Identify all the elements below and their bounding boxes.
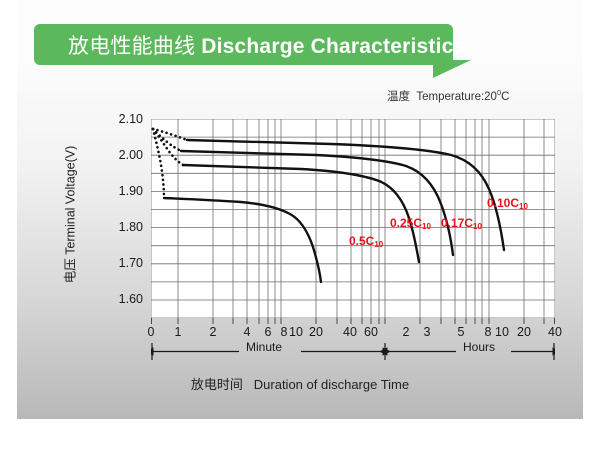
banner-tail-icon — [433, 60, 471, 78]
y-tick-label: 1.60 — [109, 292, 143, 306]
y-tick-label: 1.70 — [109, 256, 143, 270]
plot-background — [151, 119, 555, 318]
x-axis-ticks — [151, 318, 555, 325]
temperature-label-cn: 温度 — [387, 91, 410, 103]
x-tick-label: 2 — [200, 325, 226, 339]
curve-label-0-25c10: 0.25C10 — [390, 216, 431, 230]
range-label-minute: Minute — [241, 340, 287, 354]
y-tick-label: 1.80 — [109, 220, 143, 234]
caption-cn: 放电时间 — [191, 377, 243, 392]
temperature-unit: C — [501, 91, 509, 103]
range-label-hours: Hours — [458, 340, 500, 354]
chart-svg — [151, 119, 555, 318]
y-tick-label: 1.90 — [109, 184, 143, 198]
curve-label-sub: 10 — [422, 222, 431, 231]
curve-label-sub: 10 — [519, 202, 528, 211]
x-tick-label: 20 — [303, 325, 329, 339]
y-tick-label: 2.10 — [109, 112, 143, 126]
x-tick-label: 20 — [511, 325, 537, 339]
x-tick-label: 5 — [448, 325, 474, 339]
chart-card: 放电性能曲线 Discharge Characteristics 温度 Temp… — [17, 0, 583, 419]
y-axis-title: 电压 Terminal Voltage(V) — [60, 115, 79, 315]
curve-label-0-17c10: 0.17C10 — [441, 216, 482, 230]
curve-label-0-10c10: 0.10C10 — [487, 196, 528, 210]
y-tick-label: 2.00 — [109, 148, 143, 162]
plot-area — [151, 119, 555, 318]
curve-label-sub: 10 — [473, 222, 482, 231]
x-tick-label: 3 — [414, 325, 440, 339]
screenshot-root: 放电性能曲线 Discharge Characteristics 温度 Temp… — [0, 0, 600, 451]
curve-label-text: 0.25C — [390, 216, 422, 230]
curve-label-text: 0.5C — [349, 234, 374, 248]
temperature-label-en: Temperature:20 — [416, 91, 497, 103]
x-tick-label: 60 — [358, 325, 384, 339]
caption-en: Duration of discharge Time — [254, 377, 409, 392]
x-tick-label: 40 — [542, 325, 568, 339]
page-title-cn: 放电性能曲线 — [68, 35, 195, 58]
x-tick-label: 0 — [138, 325, 164, 339]
chart-caption: 放电时间 Duration of discharge Time — [17, 374, 583, 393]
header-banner: 放电性能曲线 Discharge Characteristics — [34, 24, 453, 65]
temperature-annotation: 温度 Temperature:200C — [387, 88, 509, 104]
curve-label-0-5c10: 0.5C10 — [349, 234, 383, 248]
curve-label-text: 0.10C — [487, 196, 519, 210]
curve-label-sub: 10 — [374, 240, 383, 249]
x-axis-range-bars: Minute Hours — [151, 341, 555, 363]
curve-label-text: 0.17C — [441, 216, 473, 230]
x-tick-label: 1 — [165, 325, 191, 339]
page-title-en: Discharge Characteristics — [201, 35, 465, 58]
page-title: 放电性能曲线 Discharge Characteristics — [68, 30, 465, 60]
